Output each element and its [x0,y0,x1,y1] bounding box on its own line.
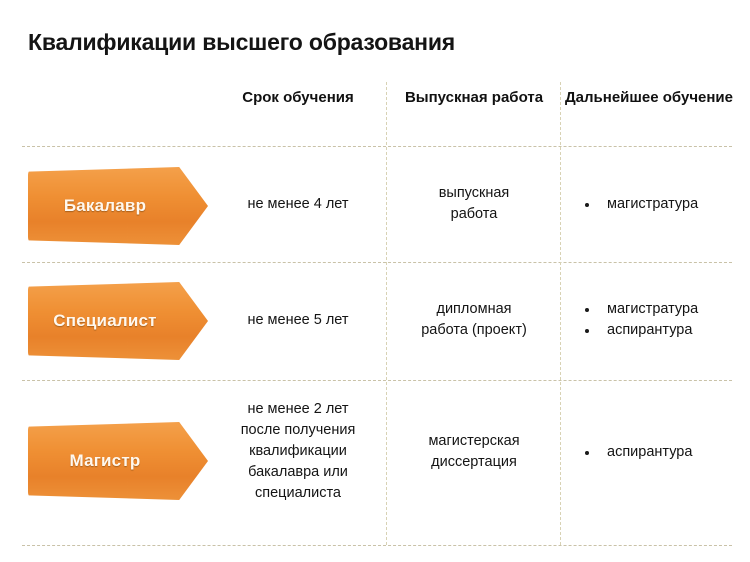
cell-final-work-line: магистерская [390,431,558,452]
cell-term: не менее 2 лет после получения квалифика… [212,399,384,504]
further-study-list: магистратура [563,194,739,215]
list-item: магистратура [581,299,739,320]
qualification-arrow-master: Магистр [28,422,208,500]
cell-term-line: квалификации [212,441,384,462]
cell-further: магистратура аспирантура [563,299,739,341]
qualification-arrow-bachelor: Бакалавр [28,167,208,245]
cell-further: аспирантура [563,442,739,463]
table-row: Бакалавр не менее 4 лет выпускная работа… [0,150,750,260]
column-header-term-line2: обучения [283,89,354,106]
column-header-term-line1: Срок [242,89,279,106]
cell-final-work: магистерская диссертация [390,431,558,473]
qualification-label: Специалист [53,311,156,331]
cell-final-work-line: выпускная [390,183,558,204]
cell-term: не менее 5 лет [212,310,384,331]
cell-term-line: после получения [212,420,384,441]
qualification-label: Магистр [70,451,141,471]
table-row: Магистр не менее 2 лет после получения к… [0,384,750,542]
cell-further: магистратура [563,194,739,215]
table-row: Специалист не менее 5 лет дипломная рабо… [0,266,750,378]
cell-term-line: не менее 5 лет [212,310,384,331]
cell-final-work-line: дипломная [390,299,558,320]
column-header-further: Дальнейшее обучение [563,88,735,108]
cell-term-line: не менее 4 лет [212,194,384,215]
header-divider [22,146,732,147]
cell-final-work: выпускная работа [390,183,558,225]
table-bottom-divider [22,545,732,546]
cell-final-work-line: работа [390,204,558,225]
page-title: Квалификации высшего образования [28,29,455,56]
cell-term: не менее 4 лет [212,194,384,215]
column-header-further-line1: Дальнейшее [565,89,659,106]
qualification-arrow-specialist: Специалист [28,282,208,360]
qualification-label: Бакалавр [64,196,146,216]
cell-final-work-line: работа (проект) [390,320,558,341]
further-study-list: магистратура аспирантура [563,299,739,341]
list-item: магистратура [581,194,739,215]
row-divider-2 [22,380,732,381]
list-item: аспирантура [581,320,739,341]
column-header-final-work: Выпускная работа [390,88,558,108]
column-header-term: Срок обучения [212,88,384,108]
cell-term-line: не менее 2 лет [212,399,384,420]
list-item: аспирантура [581,442,739,463]
cell-final-work: дипломная работа (проект) [390,299,558,341]
cell-term-line: бакалавра или [212,462,384,483]
column-header-final-work-line2: работа [492,89,543,106]
further-study-list: аспирантура [563,442,739,463]
cell-final-work-line: диссертация [390,452,558,473]
row-divider-1 [22,262,732,263]
cell-term-line: специалиста [212,483,384,504]
column-header-final-work-line1: Выпускная [405,89,488,106]
column-header-further-line2: обучение [663,89,733,106]
